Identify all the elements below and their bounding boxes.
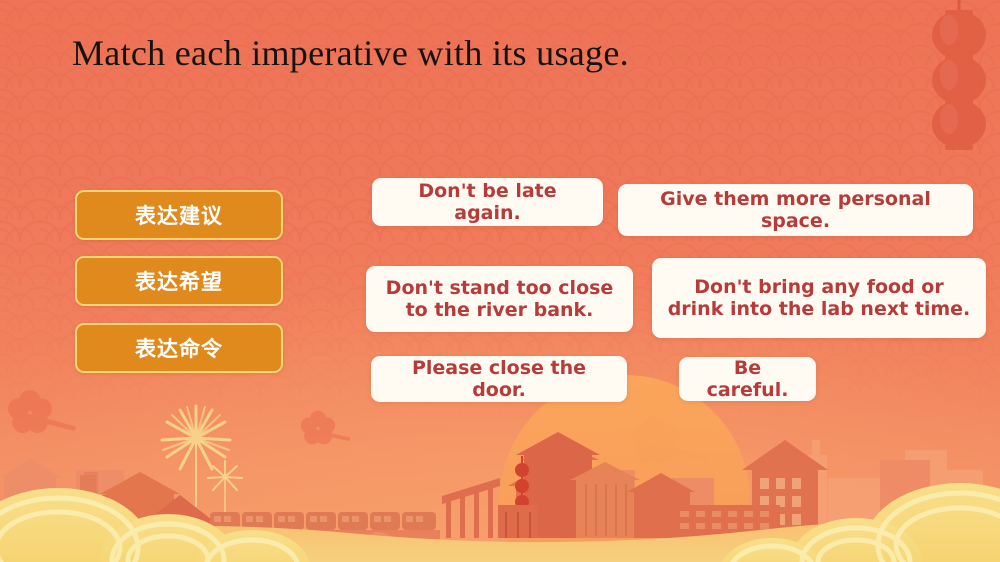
answer-card-text: Don't be late again. [386, 180, 589, 225]
answer-card-text: Be careful. [693, 357, 802, 402]
category-label: 表达希望 [135, 266, 223, 296]
answer-card-text: Don't bring any food or drink into the l… [666, 276, 972, 321]
answer-card[interactable]: Be careful. [679, 357, 816, 401]
answer-card[interactable]: Please close the door. [371, 356, 627, 402]
answer-card[interactable]: Don't be late again. [372, 178, 603, 226]
category-label: 表达命令 [135, 333, 223, 363]
answer-card[interactable]: Don't stand too close to the river bank. [366, 266, 633, 332]
answer-card[interactable]: Give them more personal space. [618, 184, 973, 236]
hanging-lanterns-icon [932, 0, 986, 150]
category-button-hope[interactable]: 表达希望 [75, 256, 283, 306]
category-label: 表达建议 [135, 200, 223, 230]
right-pier-icon [440, 478, 500, 538]
page-title: Match each imperative with its usage. [72, 32, 629, 75]
answer-card-text: Give them more personal space. [632, 188, 959, 233]
answer-card[interactable]: Don't bring any food or drink into the l… [652, 258, 986, 338]
category-button-command[interactable]: 表达命令 [75, 323, 283, 373]
answer-card-text: Please close the door. [385, 357, 613, 402]
category-button-suggestion[interactable]: 表达建议 [75, 190, 283, 240]
slide-canvas: Match each imperative with its usage. 表达… [0, 0, 1000, 562]
answer-card-text: Don't stand too close to the river bank. [380, 277, 619, 322]
